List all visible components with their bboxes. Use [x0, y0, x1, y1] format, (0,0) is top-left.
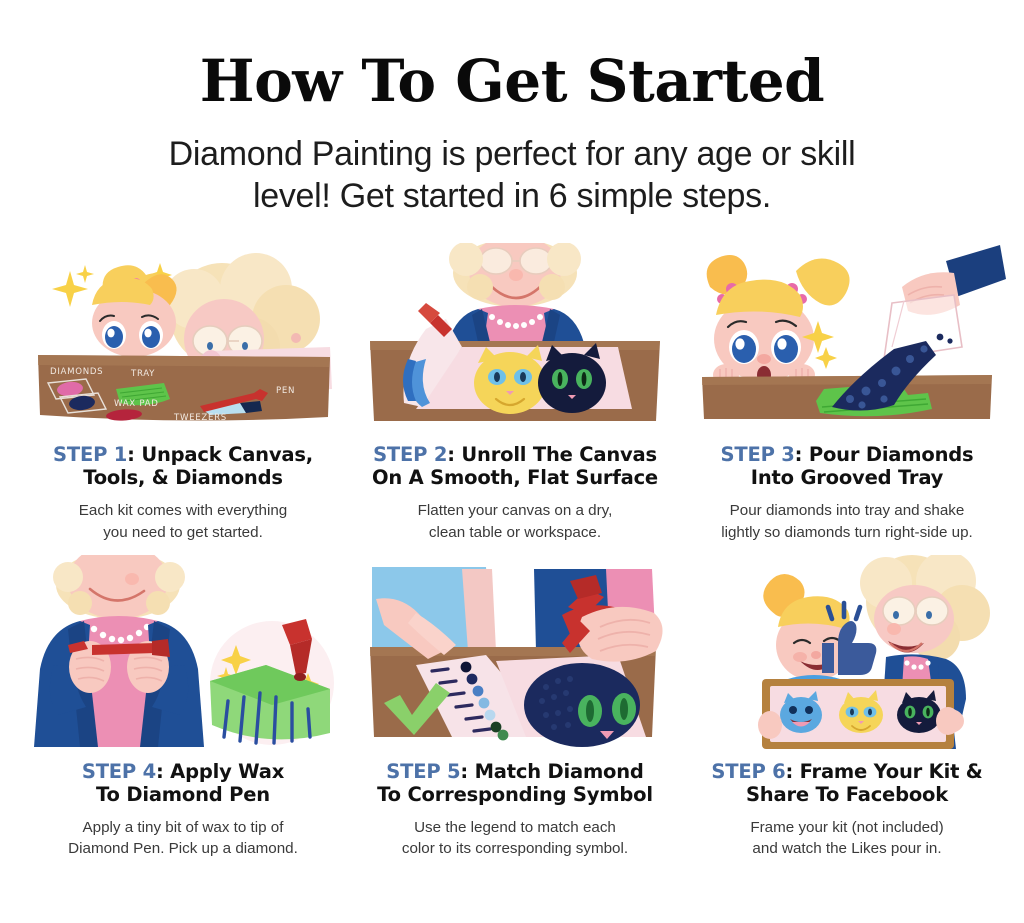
- wax-detail-inset: [210, 619, 334, 745]
- step-4-desc-line-1: Apply a tiny bit of wax to tip of: [68, 817, 298, 839]
- step-3-description: Pour diamonds into tray and shake lightl…: [715, 500, 979, 543]
- step-4-title-line-2: To Diamond Pen: [82, 783, 284, 806]
- step-6-art-wrap: [688, 560, 1006, 750]
- grandmother-hand: [936, 707, 960, 735]
- art-label-diamonds: DIAMONDS: [50, 367, 103, 377]
- step-3-number: STEP 3: [721, 443, 795, 466]
- step-1-title-line-1: STEP 1: Unpack Canvas,: [53, 443, 313, 466]
- step-1-art-wrap: CANVAS DIAMONDS: [24, 243, 342, 433]
- art-label-wax-pad: WAX PAD: [114, 399, 159, 409]
- apply-wax-illustration: [24, 555, 342, 750]
- step-3-desc-line-2: lightly so diamonds turn right-side up.: [721, 522, 973, 544]
- pour-diamonds-illustration: [688, 243, 1006, 433]
- header: How To Get Started Diamond Painting is p…: [24, 0, 1000, 217]
- step-2-desc-line-1: Flatten your canvas on a dry,: [418, 500, 613, 522]
- step-card-4: STEP 4: Apply Wax To Diamond Pen Apply a…: [24, 560, 342, 860]
- step-5-desc-line-1: Use the legend to match each: [402, 817, 628, 839]
- step-2-title-text-1: : Unroll The Canvas: [447, 443, 657, 466]
- step-2-title-line-1: STEP 2: Unroll The Canvas: [372, 443, 658, 466]
- framed-painting: [758, 679, 960, 749]
- step-4-art-wrap: [24, 560, 342, 750]
- step-2-art-wrap: [356, 243, 674, 433]
- step-card-5: STEP 5: Match Diamond To Corresponding S…: [356, 560, 674, 860]
- step-6-desc-line-2: and watch the Likes pour in.: [750, 838, 943, 860]
- step-3-desc-line-1: Pour diamonds into tray and shake: [721, 500, 973, 522]
- step-2-number: STEP 2: [373, 443, 447, 466]
- subtitle-line-2: level! Get started in 6 simple steps.: [24, 175, 1000, 217]
- steps-grid: CANVAS DIAMONDS: [24, 243, 1000, 859]
- step-1-number: STEP 1: [53, 443, 127, 466]
- step-1-title-text-1: : Unpack Canvas,: [127, 443, 313, 466]
- step-4-title-line-1: STEP 4: Apply Wax: [82, 760, 284, 783]
- unpack-canvas-illustration: CANVAS DIAMONDS: [24, 243, 342, 433]
- step-3-art-wrap: [688, 243, 1006, 433]
- girl-character: [92, 266, 177, 358]
- step-1-description: Each kit comes with everything you need …: [73, 500, 294, 543]
- step-1-title-line-2: Tools, & Diamonds: [53, 466, 313, 489]
- step-2-title-line-2: On A Smooth, Flat Surface: [372, 466, 658, 489]
- step-6-caption: STEP 6: Frame Your Kit & Share To Facebo…: [707, 760, 986, 806]
- unroll-canvas-illustration: [356, 243, 674, 433]
- step-1-caption: STEP 1: Unpack Canvas, Tools, & Diamonds: [49, 443, 317, 489]
- step-3-caption: STEP 3: Pour Diamonds Into Grooved Tray: [717, 443, 978, 489]
- blue-cat-art: [780, 691, 822, 733]
- step-6-description: Frame your kit (not included) and watch …: [744, 817, 949, 860]
- step-6-title-line-1: STEP 6: Frame Your Kit &: [711, 760, 982, 783]
- step-4-number: STEP 4: [82, 760, 156, 783]
- step-6-title-line-2: Share To Facebook: [711, 783, 982, 806]
- step-card-1: CANVAS DIAMONDS: [24, 243, 342, 543]
- step-5-number: STEP 5: [386, 760, 460, 783]
- step-4-desc-line-2: Diamond Pen. Pick up a diamond.: [68, 838, 298, 860]
- step-2-caption: STEP 2: Unroll The Canvas On A Smooth, F…: [368, 443, 662, 489]
- page-subtitle: Diamond Painting is perfect for any age …: [24, 133, 1000, 217]
- step-5-title-line-2: To Corresponding Symbol: [377, 783, 653, 806]
- art-label-tweezers: TWEEZERS: [173, 413, 227, 423]
- surprised-girl-character: [707, 255, 850, 386]
- art-label-tray: TRAY: [130, 369, 155, 379]
- step-4-title-text-1: : Apply Wax: [156, 760, 284, 783]
- step-6-desc-line-1: Frame your kit (not included): [750, 817, 943, 839]
- step-5-title-line-1: STEP 5: Match Diamond: [377, 760, 653, 783]
- match-symbol-illustration: [356, 555, 674, 750]
- child-arm: [462, 569, 496, 651]
- step-5-description: Use the legend to match each color to it…: [396, 817, 634, 860]
- step-card-2: STEP 2: Unroll The Canvas On A Smooth, F…: [356, 243, 674, 543]
- yellow-cat-art: [474, 345, 546, 414]
- step-6-title-text-1: : Frame Your Kit &: [786, 760, 983, 783]
- step-1-desc-line-2: you need to get started.: [79, 522, 288, 544]
- page-title: How To Get Started: [24, 52, 1000, 111]
- step-2-description: Flatten your canvas on a dry, clean tabl…: [412, 500, 619, 543]
- subtitle-line-1: Diamond Painting is perfect for any age …: [24, 133, 1000, 175]
- step-1-desc-line-1: Each kit comes with everything: [79, 500, 288, 522]
- step-3-title-text-1: : Pour Diamonds: [795, 443, 974, 466]
- step-3-title-line-1: STEP 3: Pour Diamonds: [721, 443, 974, 466]
- step-5-caption: STEP 5: Match Diamond To Corresponding S…: [373, 760, 657, 806]
- step-5-desc-line-2: color to its corresponding symbol.: [402, 838, 628, 860]
- step-2-desc-line-2: clean table or workspace.: [418, 522, 613, 544]
- step-3-title-line-2: Into Grooved Tray: [721, 466, 974, 489]
- art-label-pen: PEN: [276, 386, 295, 396]
- step-card-6: STEP 6: Frame Your Kit & Share To Facebo…: [688, 560, 1006, 860]
- grandmother-character: [34, 555, 204, 747]
- step-5-art-wrap: [356, 560, 674, 750]
- step-6-number: STEP 6: [711, 760, 785, 783]
- infographic-page: How To Get Started Diamond Painting is p…: [0, 0, 1024, 923]
- step-5-title-text-1: : Match Diamond: [460, 760, 643, 783]
- frame-kit-illustration: [688, 555, 1006, 750]
- step-4-description: Apply a tiny bit of wax to tip of Diamon…: [62, 817, 304, 860]
- girl-hand: [758, 711, 782, 739]
- step-4-caption: STEP 4: Apply Wax To Diamond Pen: [78, 760, 288, 806]
- step-card-3: STEP 3: Pour Diamonds Into Grooved Tray …: [688, 243, 1006, 543]
